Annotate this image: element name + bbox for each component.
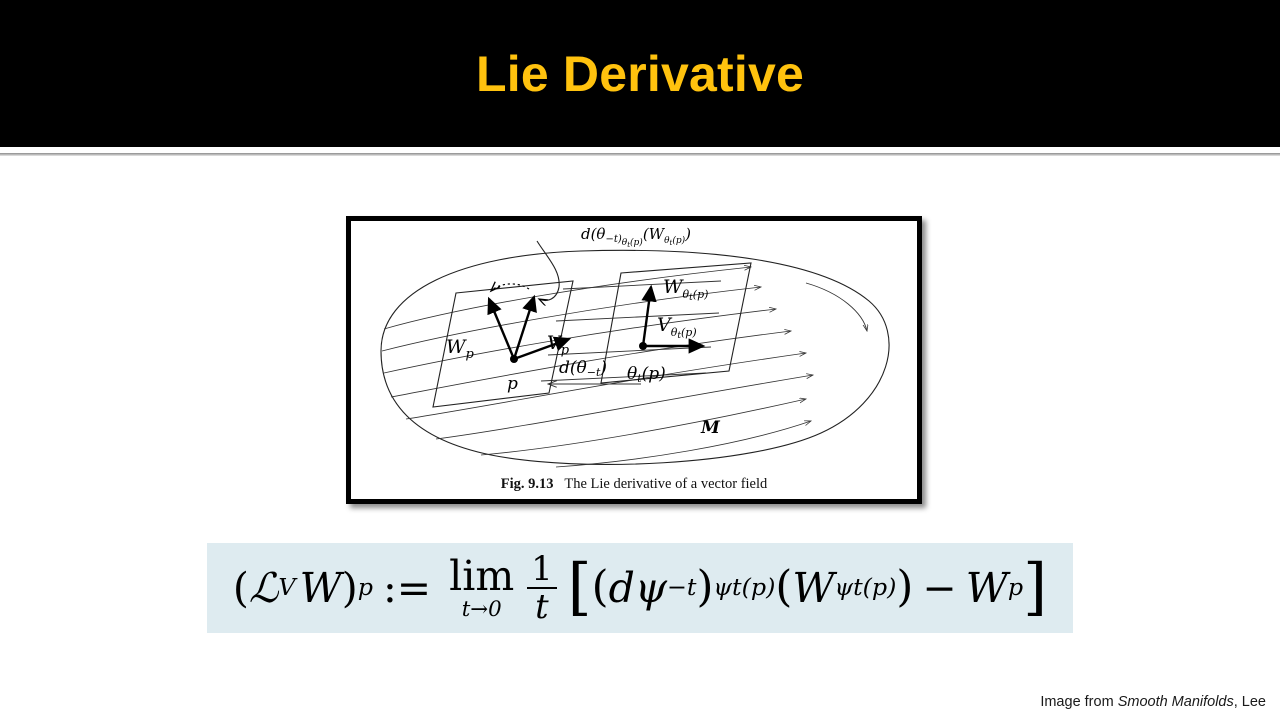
formula-w-close-paren: )	[896, 566, 913, 609]
image-credit-suffix: , Lee	[1234, 694, 1266, 710]
formula-w-flowed: W	[792, 568, 834, 609]
image-credit-source-title: Smooth Manifolds	[1118, 694, 1234, 710]
figure-caption-text: The Lie derivative of a vector field	[564, 476, 767, 492]
label-right-W: Wθt(p)	[663, 276, 708, 303]
formula-fraction-denominator: t	[531, 589, 553, 624]
formula-inner-close-paren: )	[696, 566, 713, 609]
formula-w-base: W	[966, 568, 1008, 609]
pushforward-callout-curve	[537, 241, 559, 301]
formula-minus: −	[922, 568, 956, 609]
formula-close-paren: )	[342, 568, 358, 609]
figure-container: d(θ−t)θt(p)(Wθt(p)) Wp Vp p d(θ−t) Wθt(p…	[346, 216, 922, 504]
formula-sub-psi-t-p: ψt(p)	[713, 576, 775, 600]
label-right-V: Vθt(p)	[657, 314, 697, 341]
formula-sub-p: p	[358, 576, 373, 600]
slide-header-bar: Lie Derivative	[0, 0, 1280, 147]
formula-psi-sub-minus-t: −t	[667, 576, 696, 600]
lie-derivative-formula: (ℒVW)p := lim t→0 1 t [ (dψ−t)ψt(p)(Wψt(…	[233, 552, 1047, 623]
formula-highlight-band: (ℒVW)p := lim t→0 1 t [ (dψ−t)ψt(p)(Wψt(…	[207, 543, 1073, 633]
formula-psi: ψ	[635, 568, 667, 609]
formula-d: d	[609, 568, 635, 609]
formula-limit: lim t→0	[449, 556, 514, 620]
header-divider-rule	[0, 153, 1280, 156]
image-credit-prefix: Image from	[1040, 694, 1117, 710]
formula-fraction-numerator: 1	[527, 552, 556, 587]
formula-open-paren: (	[233, 568, 249, 609]
label-manifold: M	[700, 418, 721, 438]
figure-caption: Fig. 9.13 The Lie derivative of a vector…	[351, 476, 917, 493]
label-base-point: p	[507, 374, 518, 394]
page-title: Lie Derivative	[476, 49, 804, 99]
formula-assign: :=	[383, 568, 431, 609]
formula-sub-v: V	[278, 576, 295, 600]
formula-w-sub-psi-t-p: ψt(p)	[834, 576, 896, 600]
formula-bracket-open: [	[568, 557, 592, 619]
lie-derivative-diagram: d(θ−t)θt(p)(Wθt(p)) Wp Vp p d(θ−t) Wθt(p…	[351, 221, 917, 499]
label-differential: d(θ−t)	[559, 358, 607, 379]
formula-script-l: ℒ	[249, 568, 279, 609]
label-flowed-point: θt(p)	[627, 364, 666, 385]
formula-w-open-paren: (	[775, 566, 792, 609]
label-left-W: Wp	[446, 336, 475, 362]
formula-inner-open-paren: (	[592, 566, 609, 609]
figure-caption-number: Fig. 9.13	[501, 476, 554, 492]
formula-w-base-sub-p: p	[1008, 576, 1023, 600]
label-top-pushforward: d(θ−t)θt(p)(Wθt(p))	[581, 225, 691, 249]
image-credit: Image from Smooth Manifolds, Lee	[1040, 694, 1266, 710]
formula-w: W	[300, 568, 342, 609]
formula-lim-condition: t→0	[462, 599, 502, 620]
formula-fraction-one-over-t: 1 t	[527, 552, 556, 623]
formula-lim-label: lim	[449, 556, 514, 597]
formula-bracket-close: ]	[1023, 557, 1047, 619]
